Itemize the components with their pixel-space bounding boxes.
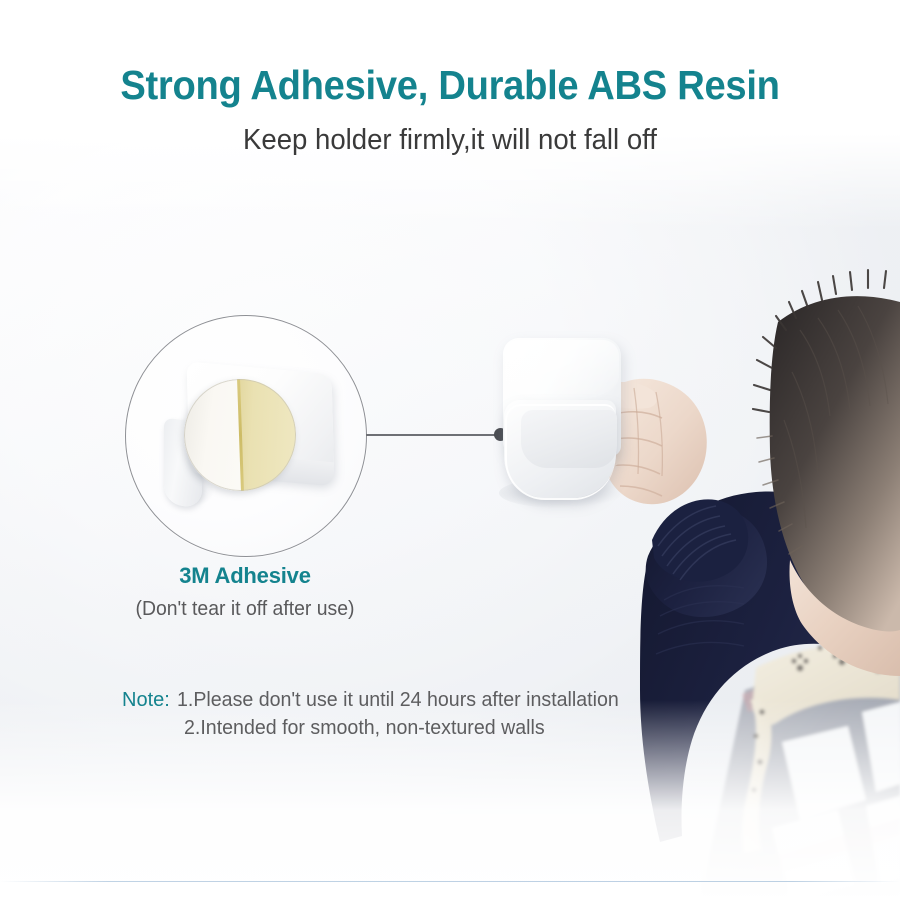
page-subtitle: Keep holder firmly,it will not fall off [23, 121, 878, 159]
product-feature-image: Strong Adhesive, Durable ABS Resin Keep … [0, 0, 900, 900]
note-row-2: 2.Intended for smooth, non-textured wall… [122, 714, 722, 742]
magnified-inset-circle [125, 315, 367, 557]
note-item-2: 2.Intended for smooth, non-textured wall… [184, 714, 545, 742]
hook-lip-outline [505, 404, 615, 500]
adhesive-caption-title: 3M Adhesive [100, 563, 390, 589]
wall-top-fade [0, 0, 900, 230]
wall-mounted-hook [503, 338, 621, 466]
hook-plate-highlight [505, 340, 619, 400]
inset-adhesive-disc [182, 377, 298, 493]
adhesive-caption-subtitle: (Don't tear it off after use) [90, 598, 400, 621]
bottom-divider-line [0, 881, 900, 882]
note-label: Note: [122, 686, 177, 714]
note-block: Note: 1.Please don't use it until 24 hou… [122, 686, 722, 742]
page-title: Strong Adhesive, Durable ABS Resin [32, 60, 869, 110]
inset-contents [126, 316, 366, 556]
note-row-1: Note: 1.Please don't use it until 24 hou… [122, 686, 722, 714]
callout-leader-line [366, 434, 496, 436]
note-item-1: 1.Please don't use it until 24 hours aft… [177, 686, 619, 714]
